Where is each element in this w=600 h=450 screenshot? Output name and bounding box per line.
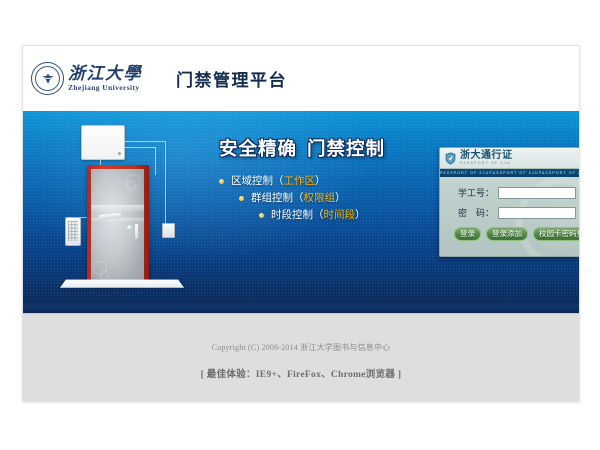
- feature-text-group: 群组控制（: [251, 192, 304, 204]
- bullet-dot-icon: [239, 196, 244, 201]
- banner-bottom-band: [23, 300, 579, 313]
- zju-bird-emblem-icon: [40, 72, 55, 85]
- wire-box-to-door-h: [123, 147, 155, 148]
- bullet-dot-icon: [219, 179, 224, 184]
- copyright-text: Copyright (C) 2008-2014 浙江大学图书与信息中心: [23, 342, 579, 353]
- login-add-button[interactable]: 登录添加: [486, 227, 528, 241]
- shield-icon: [445, 152, 456, 165]
- feature-highlight-time: 时间段: [324, 209, 356, 221]
- screenshot-stage: 浙江大學 Zhejiang University 门禁管理平台: [0, 0, 600, 450]
- strip-text-2: PASSPORT OF ZJU: [489, 171, 538, 175]
- feature-text-time: 时段控制（: [271, 209, 324, 221]
- site-footer: Copyright (C) 2008-2014 浙江大学图书与信息中心 [ 最佳…: [23, 313, 579, 401]
- door-icon: [87, 165, 149, 283]
- wire-box-to-reader-v: [165, 141, 166, 224]
- page-title: 门禁管理平台: [176, 66, 287, 91]
- login-form: 学工号： 密 码： 登录 登录添加 校园卡密码登录: [440, 177, 579, 241]
- university-name-block: 浙江大學 Zhejiang University: [68, 65, 142, 92]
- door-handle-icon: [135, 224, 138, 239]
- feature-list: 区域控制（工作区） 群组控制（权限组） 时段控制（时间段）: [219, 173, 366, 224]
- strip-text-1: PASSPORT OF ZJU: [440, 171, 489, 175]
- door-lock-icon: [127, 225, 132, 230]
- login-brand-cn: 浙大通行证: [460, 151, 513, 161]
- door-band-upper: [91, 205, 144, 212]
- floor-platform: [60, 280, 184, 288]
- login-passport-strip: PASSPORT OF ZJU PASSPORT OF ZJU PASSPORT…: [440, 169, 579, 177]
- feature-text-time-end: ）: [355, 209, 366, 221]
- feature-highlight-group: 权限组: [304, 192, 336, 204]
- feature-item-time: 时段控制（时间段）: [219, 207, 366, 224]
- feature-text-group-end: ）: [335, 192, 346, 204]
- access-control-illustration: [45, 123, 197, 305]
- feature-highlight-area: 工作区: [284, 175, 316, 187]
- login-button[interactable]: 登录: [454, 227, 481, 241]
- wire-box-to-reader-h: [123, 141, 165, 142]
- bullet-dot-icon: [259, 213, 264, 218]
- slogan-part-1: 安全精确: [219, 138, 297, 159]
- door-gear-d: [100, 270, 109, 279]
- form-row-userid: 学工号：: [448, 186, 579, 199]
- feature-text-area: 区域控制（: [231, 175, 284, 187]
- page-container: 浙江大學 Zhejiang University 门禁管理平台: [22, 45, 580, 402]
- card-reader-icon: [162, 223, 175, 238]
- zju-seal-icon: [31, 62, 64, 95]
- feature-item-group: 群组控制（权限组）: [219, 190, 366, 207]
- strip-text-3: PASSPORT OF ZJU: [539, 171, 579, 175]
- feature-item-area: 区域控制（工作区）: [219, 173, 366, 190]
- door-gear-b: [126, 181, 136, 191]
- university-name-cn: 浙江大學: [68, 65, 142, 83]
- login-panel-header: 浙大通行证 PASSPORT OF ZJU: [440, 148, 579, 169]
- login-panel: 浙大通行证 PASSPORT OF ZJU PASSPORT OF ZJU PA…: [439, 147, 579, 257]
- feature-text-area-end: ）: [315, 175, 326, 187]
- hero-banner: 安全精确门禁控制 区域控制（工作区） 群组控制（权限组） 时段控制（时间段）: [23, 111, 579, 313]
- form-row-password: 密 码：: [448, 206, 579, 219]
- university-logo: 浙江大學 Zhejiang University: [31, 62, 142, 95]
- wire-box-to-door-v: [155, 147, 156, 175]
- site-header: 浙江大學 Zhejiang University 门禁管理平台: [23, 46, 579, 111]
- university-name-en: Zhejiang University: [68, 84, 142, 92]
- keypad-keys: [68, 221, 78, 241]
- keypad-reader-icon: [65, 217, 81, 246]
- password-input[interactable]: [498, 207, 576, 219]
- login-brand-block: 浙大通行证 PASSPORT OF ZJU: [460, 151, 513, 166]
- login-button-row: 登录 登录添加 校园卡密码登录: [448, 226, 579, 241]
- door-leaf: [91, 169, 144, 281]
- control-box-icon: [81, 125, 125, 160]
- password-label: 密 码：: [448, 206, 494, 219]
- slogan-part-2: 门禁控制: [307, 138, 385, 159]
- userid-label: 学工号：: [448, 186, 494, 199]
- campus-card-login-button[interactable]: 校园卡密码登录: [533, 227, 579, 241]
- login-brand-en: PASSPORT OF ZJU: [460, 162, 513, 166]
- banner-slogan: 安全精确门禁控制: [219, 135, 385, 161]
- userid-input[interactable]: [498, 187, 576, 199]
- browser-compat-note: [ 最佳体验：IE9+、FireFox、Chrome浏览器 ]: [23, 366, 579, 380]
